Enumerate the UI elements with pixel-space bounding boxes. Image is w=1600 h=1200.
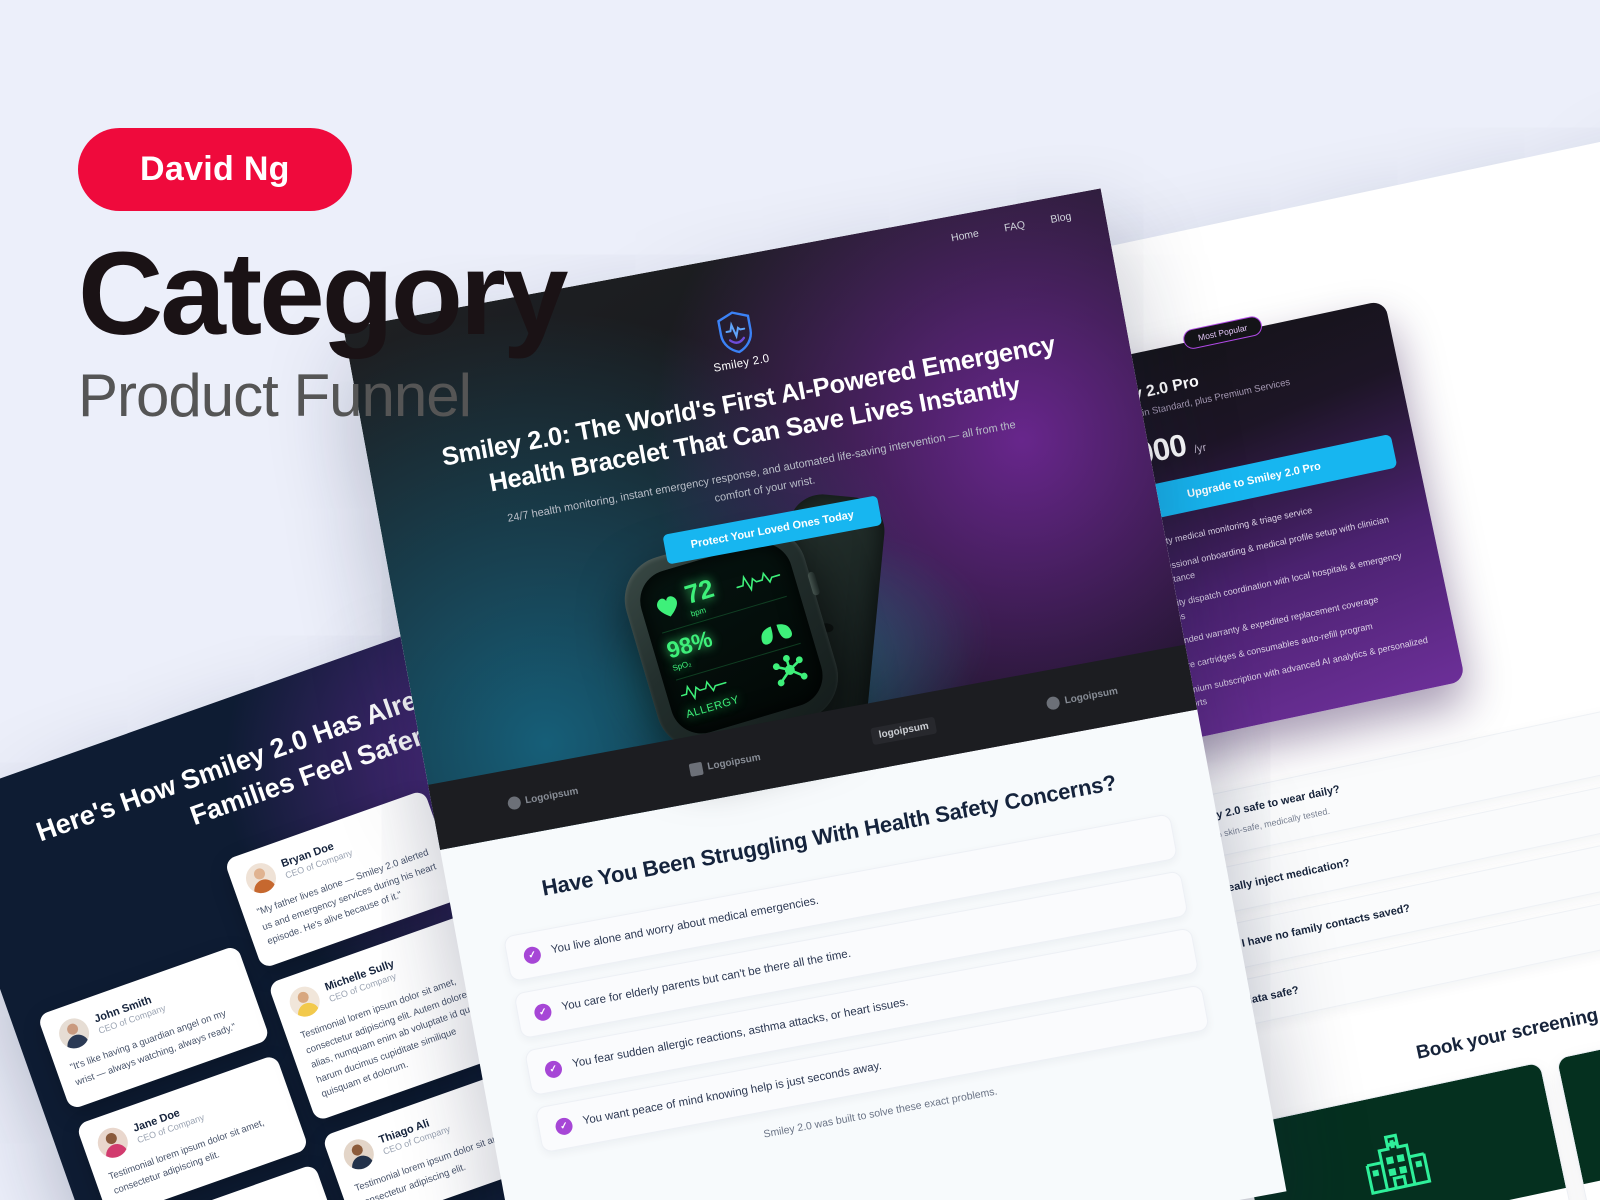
nav-item-faq[interactable]: FAQ [1003, 219, 1026, 235]
partner-logo: logoipsum [870, 716, 937, 744]
page-title: Category [78, 235, 565, 353]
status-badge: Most Popular [1181, 314, 1264, 350]
author-name-badge: David Ng [78, 128, 352, 211]
partner-logo: Logoipsum [689, 750, 762, 776]
heart-icon [652, 591, 684, 621]
avatar [55, 1015, 93, 1053]
partner-logo: Logoipsum [506, 784, 579, 810]
plan-period: /yr [1193, 442, 1207, 456]
shield-heartbeat-smile-icon [712, 306, 760, 359]
heart-rate-value: 72 [682, 575, 717, 608]
nav-item-blog[interactable]: Blog [1049, 210, 1072, 226]
watch-screen: 72 bpm 98% SpO₂ [633, 536, 830, 741]
check-circle-icon: ✓ [533, 1002, 553, 1022]
check-circle-icon: ✓ [544, 1059, 564, 1079]
avatar [242, 859, 280, 897]
partner-logo: Logoipsum [1046, 684, 1119, 710]
logo-mark-icon [1046, 695, 1061, 710]
logo-mark-icon [689, 761, 704, 776]
check-circle-icon: ✓ [554, 1116, 574, 1136]
avatar [94, 1124, 132, 1162]
check-circle-icon: ✓ [522, 945, 542, 965]
logo-mark-icon [506, 795, 521, 810]
avatar [286, 983, 324, 1021]
partner-logo-label: Logoipsum [1064, 685, 1119, 706]
partner-logo-label: logoipsum [878, 720, 930, 740]
lungs-icon [748, 601, 800, 651]
allergen-molecule-icon [768, 650, 812, 693]
ecg-wave-icon [733, 563, 783, 597]
avatar [340, 1135, 378, 1173]
title-block: David Ng Category Product Funnel [78, 128, 565, 430]
partner-logo-label: Logoipsum [524, 785, 579, 806]
page-subtitle: Product Funnel [78, 361, 565, 430]
nav-item-home[interactable]: Home [950, 227, 980, 244]
partner-logo-label: Logoipsum [706, 751, 761, 772]
